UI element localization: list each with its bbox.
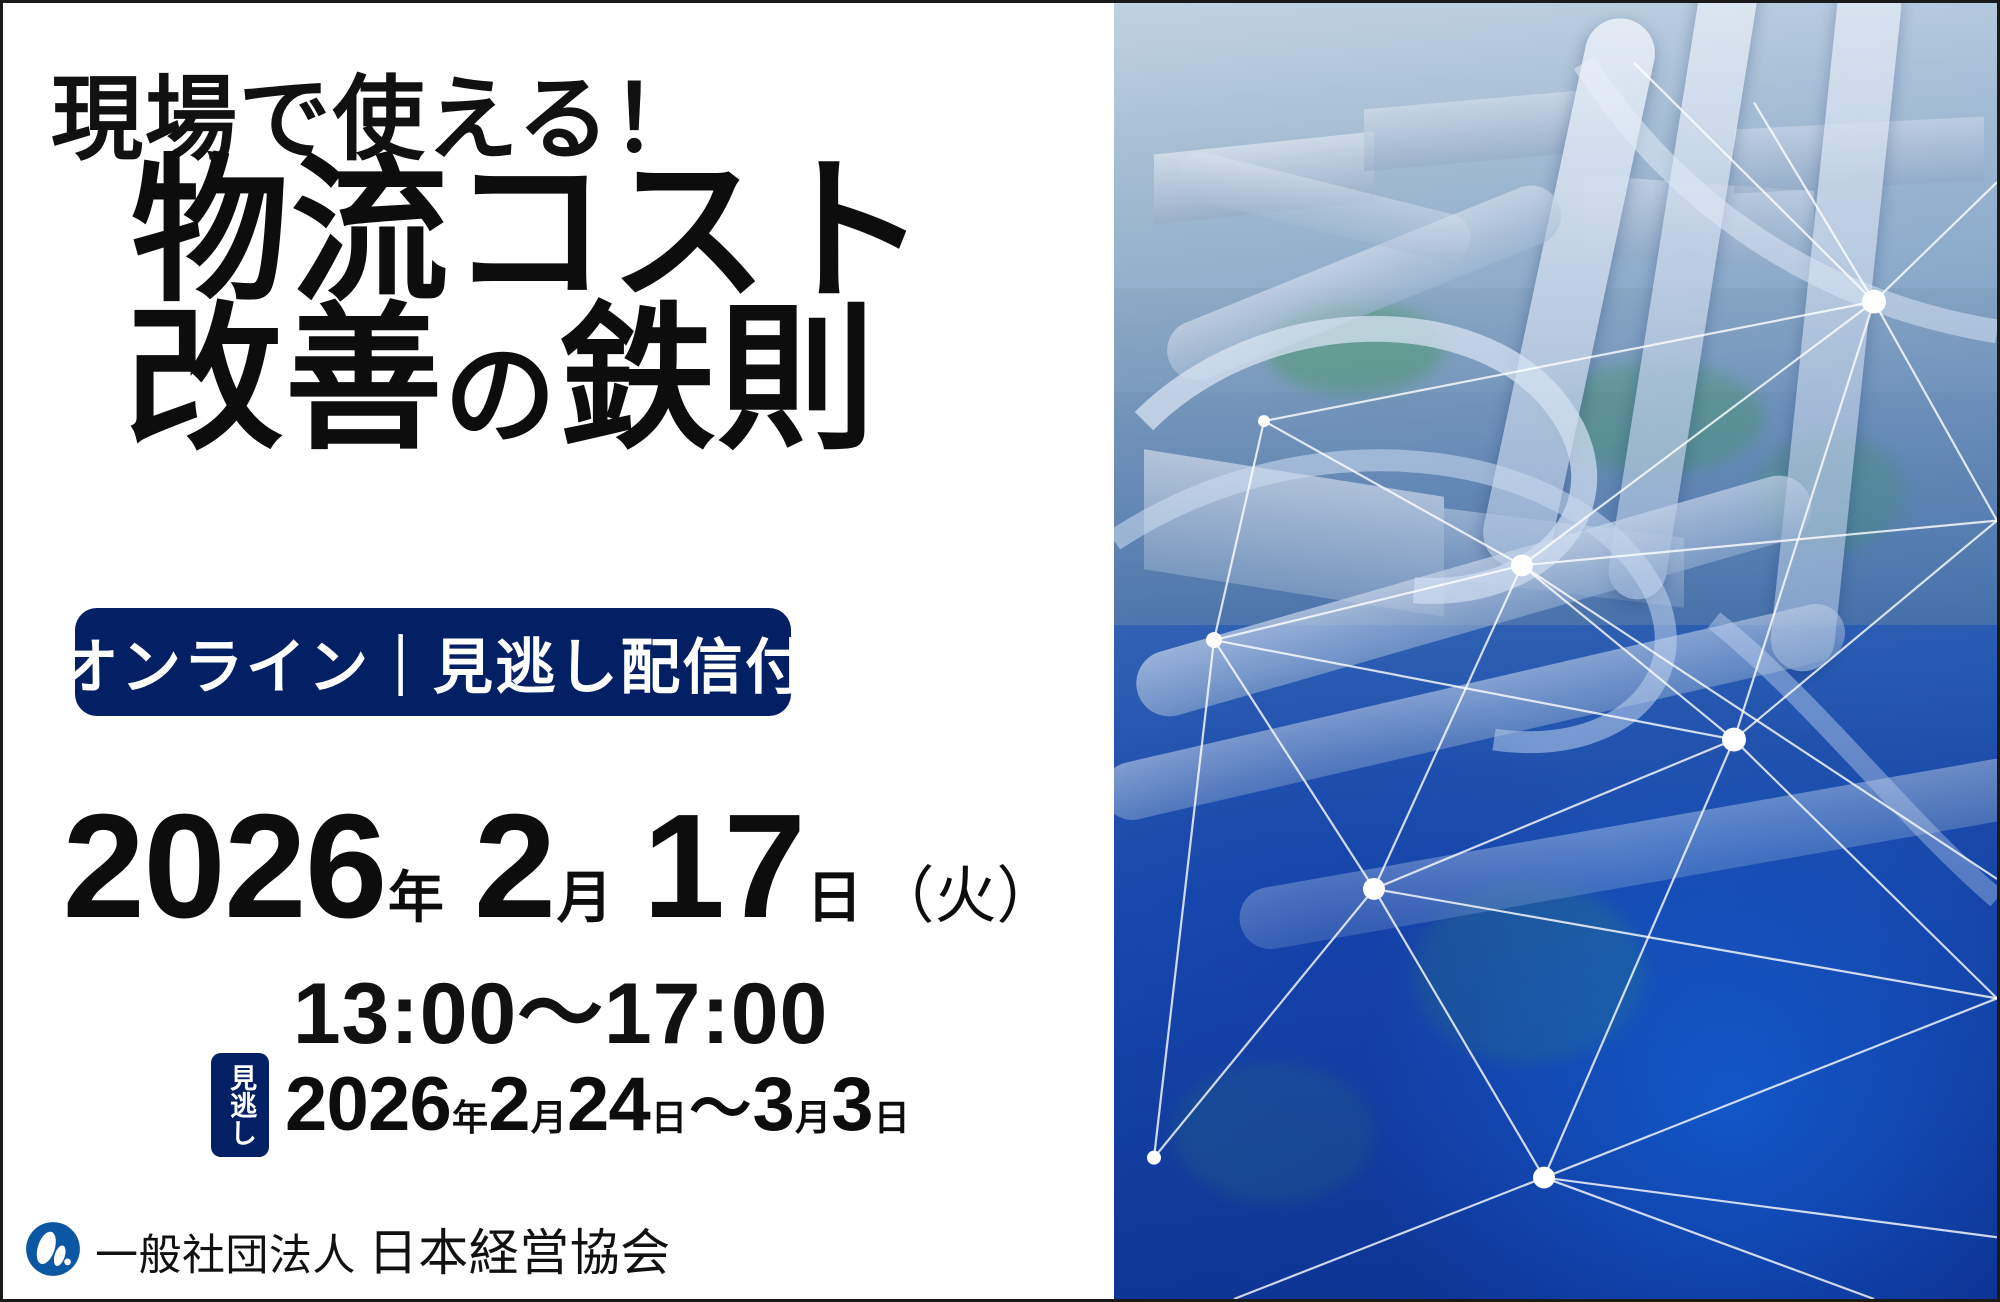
archive-end-month: 3	[753, 1067, 795, 1143]
footer-name-text: 一般社団法人 日本経営協会	[95, 1213, 671, 1285]
footer-organization: 一般社団法人 日本経営協会	[25, 1213, 671, 1285]
naka-circle-logo-icon	[25, 1221, 81, 1277]
format-badge: オンライン｜見逃し配信付	[75, 608, 791, 716]
archive-start-month: 2	[488, 1067, 530, 1143]
archive-year-unit: 年	[452, 1101, 487, 1137]
archive-end-day: 3	[831, 1067, 873, 1143]
format-badge-label: オンライン｜見逃し配信付	[59, 619, 808, 706]
hero-photo-panel	[1114, 3, 1997, 1299]
event-month: 2	[474, 793, 555, 941]
event-date-row: 2026 年 2 月 17 日 （火）	[3, 793, 1118, 941]
title-line-2-part-a: 改善	[125, 288, 444, 472]
title-line-2: 改善の鉄則	[125, 301, 877, 459]
event-month-unit: 月	[557, 853, 613, 934]
archive-start-day-unit: 日	[651, 1101, 686, 1137]
archive-period-row: 見逃し 2026年2月24日～3月3日	[3, 1053, 1118, 1157]
archive-year: 2026	[285, 1067, 451, 1143]
archive-start-day: 24	[567, 1067, 650, 1143]
archive-badge: 見逃し	[211, 1053, 269, 1157]
left-text-panel: 現場で使える！ 物流コスト 改善の鉄則 オンライン｜見逃し配信付 2026 年 …	[3, 3, 1118, 1299]
seminar-banner: 現場で使える！ 物流コスト 改善の鉄則 オンライン｜見逃し配信付 2026 年 …	[0, 0, 2000, 1302]
event-year-unit: 年	[388, 853, 444, 934]
event-day-of-week: （火）	[872, 845, 1058, 935]
archive-badge-label: 見逃し	[225, 1064, 255, 1147]
title-line-2-particle: の	[444, 331, 558, 461]
archive-end-month-unit: 月	[795, 1101, 830, 1137]
event-year: 2026	[63, 793, 386, 941]
event-day: 17	[643, 793, 805, 941]
archive-end-day-unit: 日	[874, 1101, 909, 1137]
archive-date-text: 2026年2月24日～3月3日	[285, 1067, 910, 1143]
footer-org-type: 一般社団法人	[95, 1221, 356, 1283]
network-nodes-icon	[1114, 3, 1997, 1299]
archive-start-month-unit: 月	[531, 1101, 566, 1137]
archive-range-tilde: ～	[689, 1079, 750, 1141]
title-line-2-part-b: 鉄則	[558, 288, 877, 472]
event-time-range: 13:00～17:00	[3, 943, 1118, 1068]
footer-org-name: 日本経営協会	[368, 1213, 671, 1285]
event-day-unit: 日	[806, 853, 862, 934]
